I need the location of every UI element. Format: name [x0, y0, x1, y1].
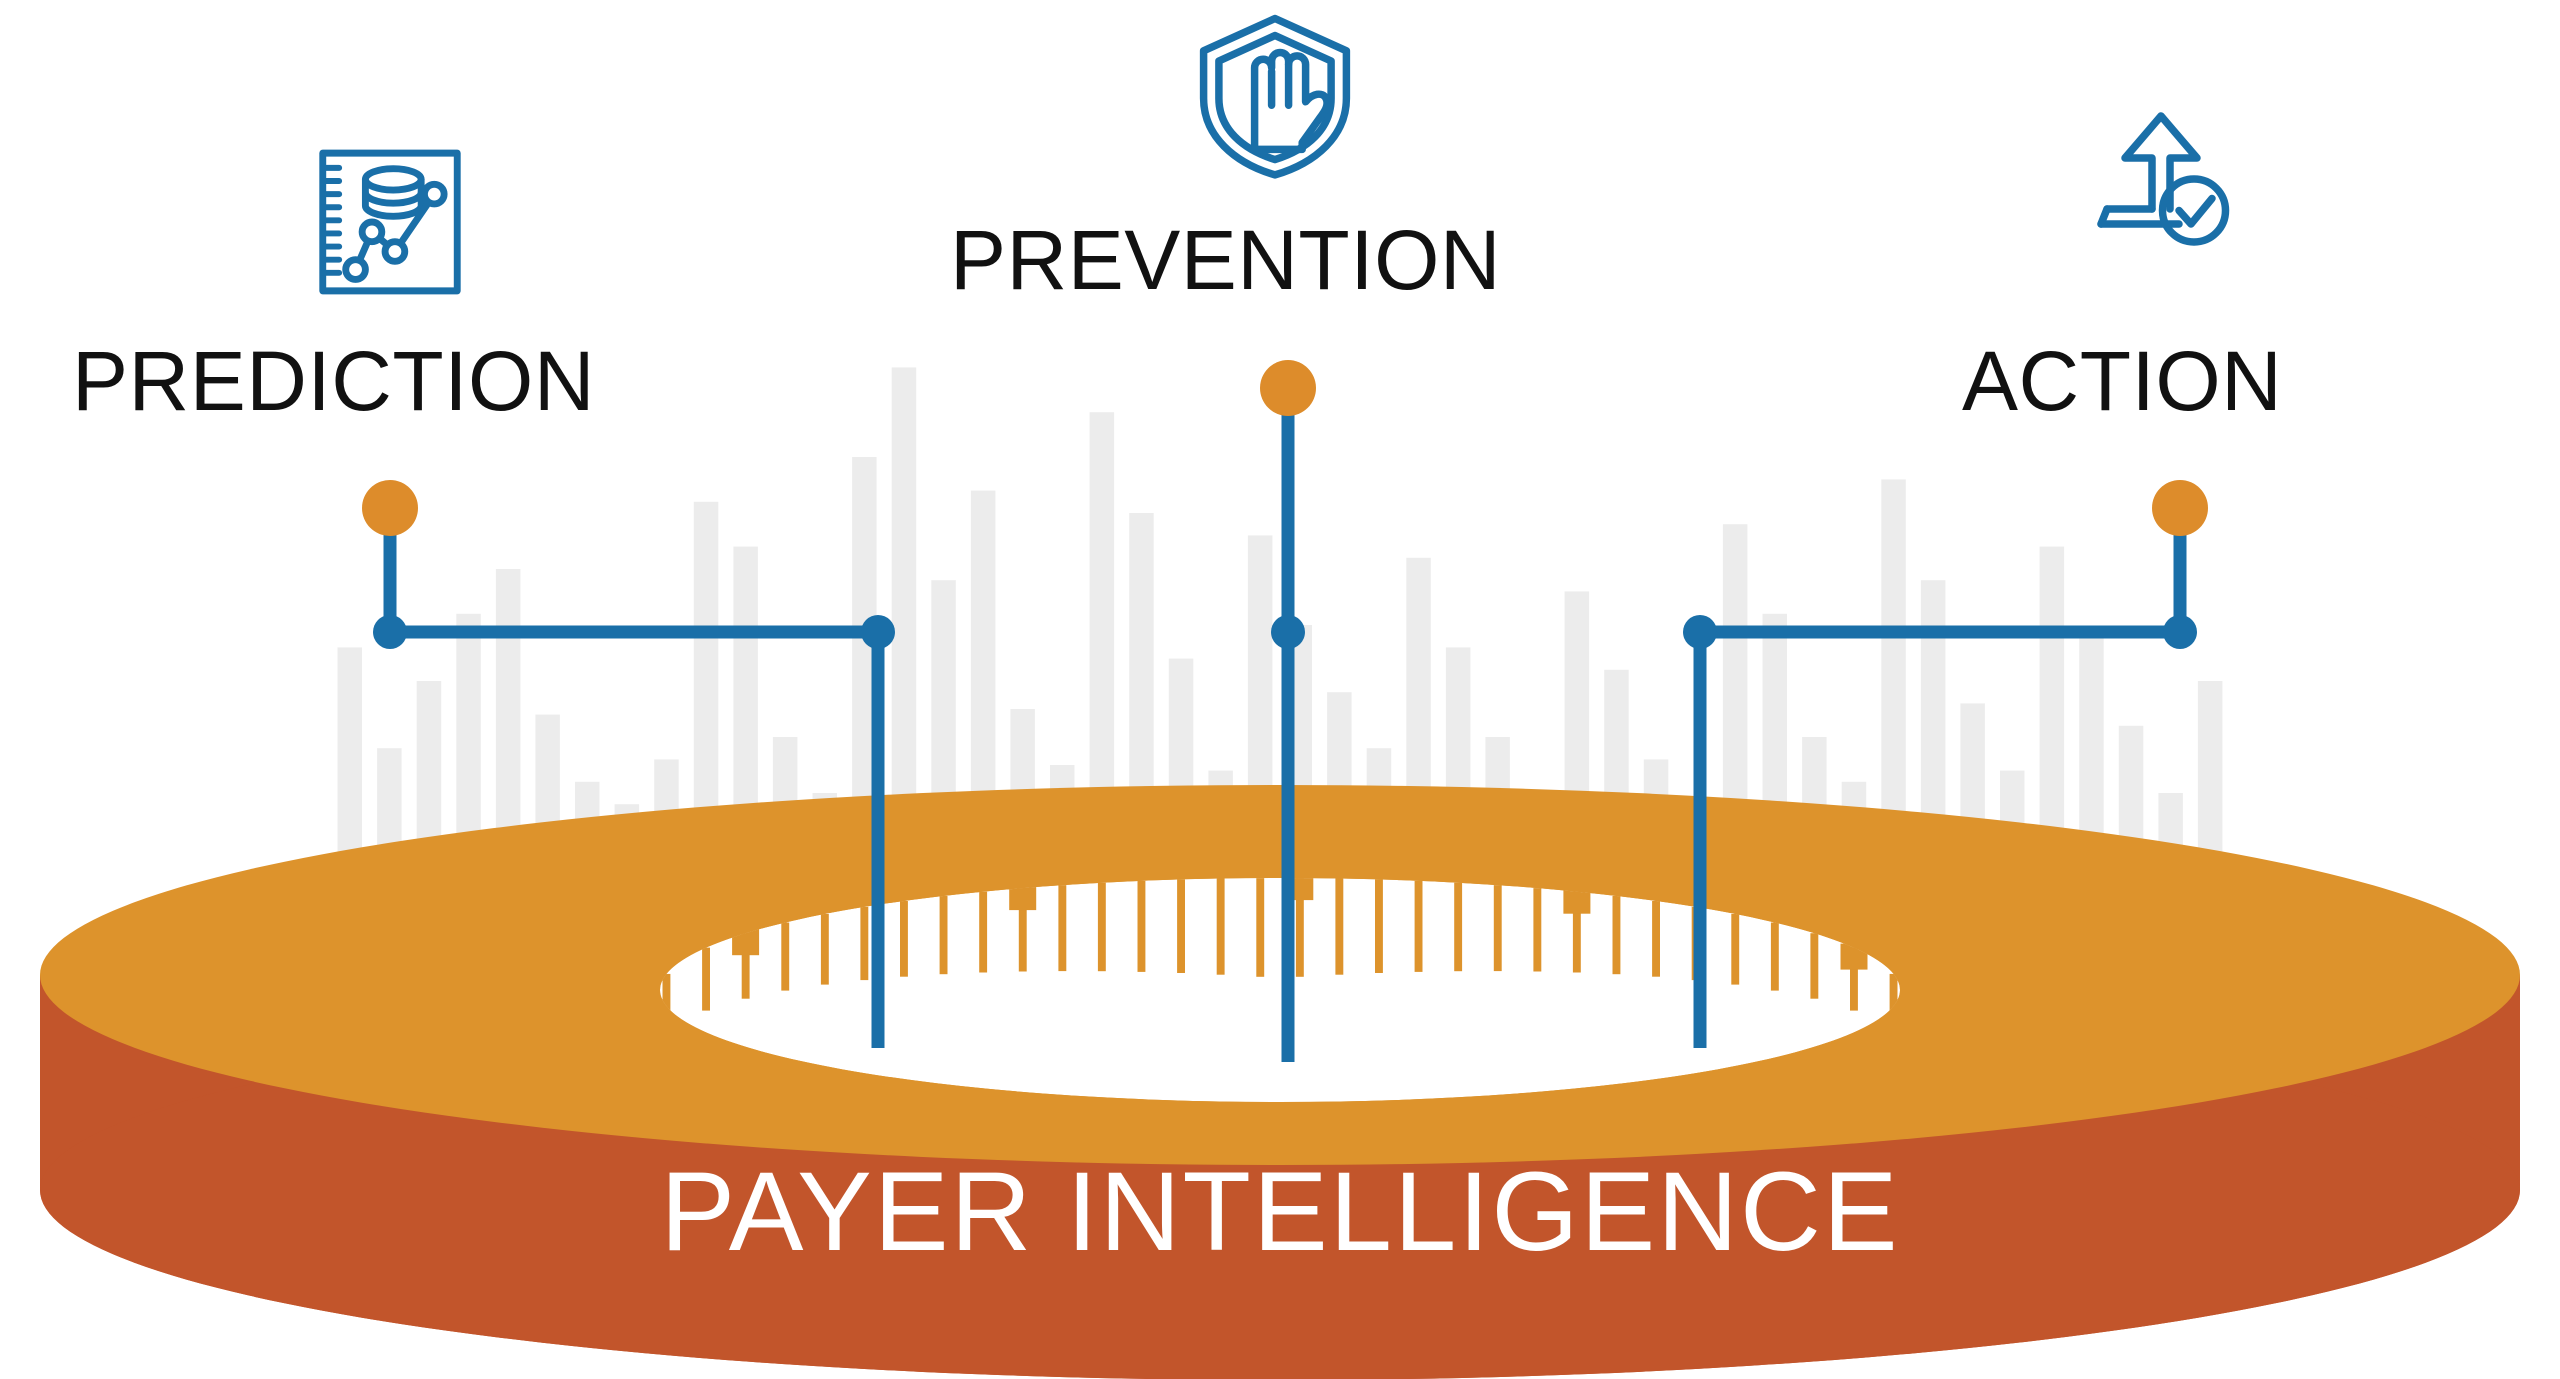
- rim-tick: [702, 948, 710, 1011]
- rim-tick: [1771, 923, 1779, 991]
- rim-tick: [1415, 881, 1423, 972]
- rim-tick: [1375, 879, 1383, 973]
- connector-node-prediction-right[interactable]: [861, 615, 895, 649]
- pillar-dot-action[interactable]: [2152, 480, 2208, 536]
- shield-hand-icon: [1190, 10, 1360, 180]
- rim-tick: [1494, 885, 1502, 971]
- pillar-dot-prevention[interactable]: [1260, 360, 1316, 416]
- pillar-dot-prediction[interactable]: [362, 480, 418, 536]
- rim-tick: [821, 914, 829, 985]
- rim-tick: [1652, 901, 1660, 977]
- rim-tick: [1810, 933, 1818, 999]
- prediction-analytics-icon: [308, 140, 472, 304]
- rim-tick: [1098, 883, 1106, 972]
- rim-tick: [860, 907, 868, 980]
- connector-node-action-right[interactable]: [2163, 615, 2197, 649]
- rim-tick: [1335, 879, 1343, 975]
- infographic-canvas: PREDICTION PREVENTION ACTION PAYER INTEL…: [0, 0, 2560, 1379]
- connector-node-prediction-left[interactable]: [373, 615, 407, 649]
- connector-node-action-left[interactable]: [1683, 615, 1717, 649]
- rim-tick: [1058, 885, 1066, 971]
- rim-tick: [1454, 883, 1462, 972]
- rim-tick: [900, 901, 908, 977]
- connector-node-prevention[interactable]: [1271, 615, 1305, 649]
- pillar-label-action: ACTION: [1962, 333, 2282, 430]
- arrow-up-check-icon: [2086, 92, 2236, 252]
- rim-tick: [1217, 879, 1225, 975]
- rim-tick: [1138, 881, 1146, 972]
- pillar-label-prevention: PREVENTION: [950, 212, 1501, 309]
- rim-tick: [1177, 879, 1185, 973]
- rim-tick: [1533, 888, 1541, 971]
- rim-tick: [781, 923, 789, 991]
- inner-hole-fill: [660, 878, 1900, 1102]
- rim-tick: [1731, 914, 1739, 985]
- rim-tick: [1256, 878, 1264, 977]
- rim-tick: [1613, 896, 1621, 974]
- rim-tick: [940, 896, 948, 974]
- rim-tick: [979, 892, 987, 973]
- pillar-label-prediction: PREDICTION: [72, 333, 595, 430]
